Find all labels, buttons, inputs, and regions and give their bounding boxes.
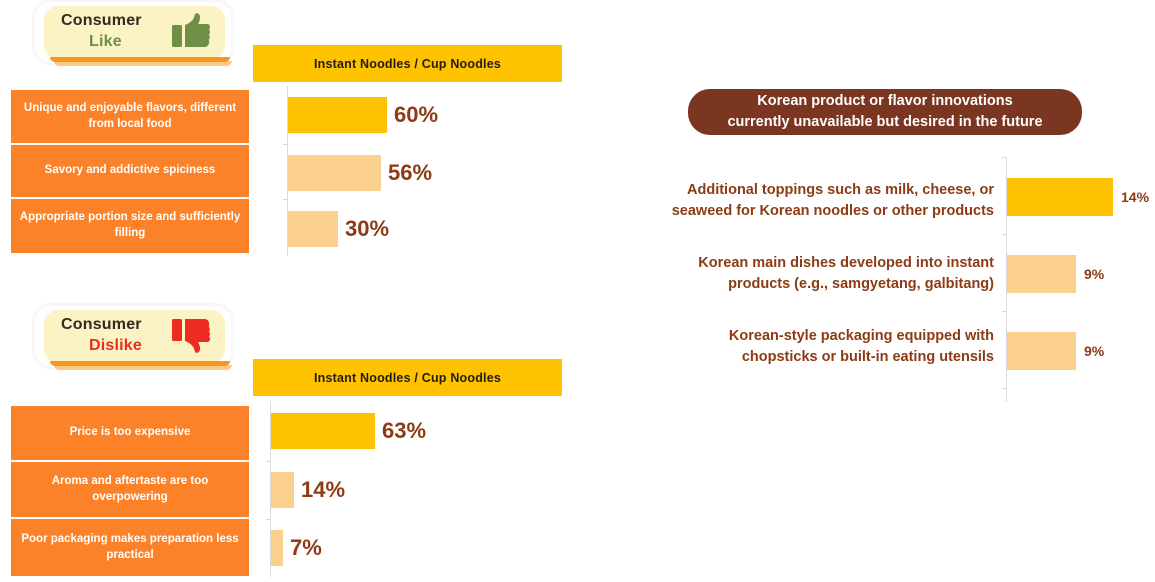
innovation-label-1: Additional toppings such as milk, cheese…	[620, 180, 994, 222]
consumer-like-badge: Consumer Like	[44, 6, 225, 59]
dislike-axis-tick-1	[266, 461, 271, 462]
dislike-bar-value-1: 63%	[382, 418, 426, 444]
dislike-label-row-3: Poor packaging makes preparation less pr…	[11, 519, 249, 576]
dislike-axis-tick-2	[266, 519, 271, 520]
innovation-bar-value-3: 9%	[1084, 343, 1104, 359]
dislike-bar-row-3: 7%	[271, 530, 322, 566]
innovation-bar-2	[1007, 255, 1076, 293]
dislike-label-row-1: Price is too expensive	[11, 406, 249, 462]
infographic-canvas: Consumer Like Instant Noodles / Cup Nood…	[0, 0, 1155, 582]
like-bar-value-3: 30%	[345, 216, 389, 242]
innovation-label-1-line2: seaweed for Korean noodles or other prod…	[620, 201, 994, 222]
dislike-bar-chart: 63% 14% 7%	[270, 401, 550, 577]
innovation-label-2-line2: products (e.g., samgyetang, galbitang)	[620, 274, 994, 295]
like-axis-tick-2	[283, 199, 288, 200]
innovation-label-2: Korean main dishes developed into instan…	[620, 253, 994, 295]
innovation-bar-chart: 14% 9% 9%	[1006, 157, 1154, 402]
like-bar-3	[288, 211, 338, 247]
innovation-bar-row-2: 9%	[1007, 255, 1104, 293]
dislike-bar-row-2: 14%	[271, 472, 345, 508]
dislike-bar-row-1: 63%	[271, 413, 426, 449]
innovation-bar-1	[1007, 178, 1113, 216]
innovation-title-line1: Korean product or flavor innovations	[757, 91, 1012, 112]
innovation-axis-tick-3	[1002, 388, 1007, 389]
innovation-axis-tick-0	[1002, 157, 1007, 158]
dislike-label-row-2: Aroma and aftertaste are too overpowerin…	[11, 462, 249, 519]
like-label-row-1: Unique and enjoyable flavors, different …	[11, 90, 249, 145]
badge-line2: Dislike	[89, 337, 142, 355]
innovation-bar-row-3: 9%	[1007, 332, 1104, 370]
innovation-axis-tick-2	[1002, 311, 1007, 312]
like-label-row-3: Appropriate portion size and sufficientl…	[11, 199, 249, 253]
like-bar-value-2: 56%	[388, 160, 432, 186]
innovation-bar-value-1: 14%	[1121, 189, 1149, 205]
innovation-label-1-line1: Additional toppings such as milk, cheese…	[620, 180, 994, 201]
badge-line1: Consumer	[61, 12, 142, 30]
innovation-bar-value-2: 9%	[1084, 266, 1104, 282]
dislike-bar-2	[271, 472, 294, 508]
like-bar-row-1: 60%	[288, 97, 438, 133]
dislike-bar-1	[271, 413, 375, 449]
like-column-header: Instant Noodles / Cup Noodles	[253, 45, 562, 82]
innovation-title-pill: Korean product or flavor innovations cur…	[688, 89, 1082, 135]
thumbs-down-icon	[171, 316, 211, 354]
like-bar-chart: 60% 56% 30%	[287, 86, 557, 256]
dislike-column-header: Instant Noodles / Cup Noodles	[253, 359, 562, 396]
thumbs-up-icon	[171, 12, 211, 50]
badge-line2: Like	[89, 33, 122, 51]
badge-underline	[50, 57, 230, 62]
like-label-row-2: Savory and addictive spiciness	[11, 145, 249, 199]
innovation-label-2-line1: Korean main dishes developed into instan…	[620, 253, 994, 274]
consumer-dislike-badge: Consumer Dislike	[44, 310, 225, 363]
innovation-label-3-line2: chopsticks or built-in eating utensils	[620, 347, 994, 368]
innovation-label-3: Korean-style packaging equipped with cho…	[620, 326, 994, 368]
innovation-axis-tick-1	[1002, 234, 1007, 235]
like-bar-row-3: 30%	[288, 211, 389, 247]
like-label-panel: Unique and enjoyable flavors, different …	[11, 90, 249, 253]
dislike-label-panel: Price is too expensive Aroma and afterta…	[11, 406, 249, 576]
innovation-title-line2: currently unavailable but desired in the…	[727, 112, 1042, 133]
badge-underline	[50, 361, 230, 366]
innovation-bar-3	[1007, 332, 1076, 370]
like-bar-1	[288, 97, 387, 133]
dislike-bar-value-3: 7%	[290, 535, 322, 561]
dislike-bar-value-2: 14%	[301, 477, 345, 503]
like-axis-tick-1	[283, 144, 288, 145]
dislike-bar-3	[271, 530, 283, 566]
like-bar-value-1: 60%	[394, 102, 438, 128]
like-bar-row-2: 56%	[288, 155, 432, 191]
innovation-label-3-line1: Korean-style packaging equipped with	[620, 326, 994, 347]
innovation-bar-row-1: 14%	[1007, 178, 1149, 216]
badge-line1: Consumer	[61, 316, 142, 334]
like-bar-2	[288, 155, 381, 191]
